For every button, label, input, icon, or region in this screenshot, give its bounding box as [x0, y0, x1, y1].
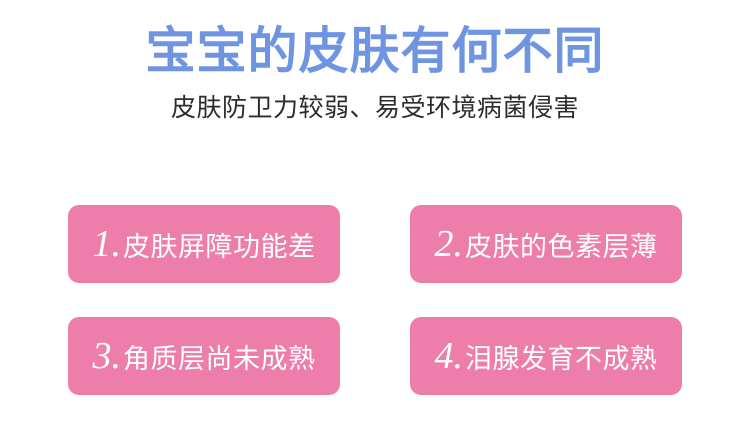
feature-grid: 1. 皮肤屏障功能差 2. 皮肤的色素层薄 3. 角质层尚未成熟 4. 泪腺发育…: [68, 205, 682, 395]
header-block: 宝宝的皮肤有何不同 皮肤防卫力较弱、易受环境病菌侵害: [0, 0, 750, 124]
feature-card-4[interactable]: 4. 泪腺发育不成熟: [410, 317, 682, 395]
feature-card-3[interactable]: 3. 角质层尚未成熟: [68, 317, 340, 395]
feature-card-2-content: 2. 皮肤的色素层薄: [435, 225, 658, 263]
feature-card-4-content: 4. 泪腺发育不成熟: [435, 337, 658, 375]
feature-card-1-content: 1. 皮肤屏障功能差: [93, 225, 316, 263]
feature-card-3-label: 角质层尚未成熟: [123, 346, 316, 373]
infographic-page: 宝宝的皮肤有何不同 皮肤防卫力较弱、易受环境病菌侵害 1. 皮肤屏障功能差 2.…: [0, 0, 750, 428]
feature-card-3-content: 3. 角质层尚未成熟: [93, 337, 316, 375]
feature-card-4-number: 4.: [435, 337, 464, 375]
feature-card-2[interactable]: 2. 皮肤的色素层薄: [410, 205, 682, 283]
page-subtitle: 皮肤防卫力较弱、易受环境病菌侵害: [0, 82, 750, 124]
feature-card-3-number: 3.: [93, 337, 122, 375]
feature-card-1[interactable]: 1. 皮肤屏障功能差: [68, 205, 340, 283]
feature-card-4-label: 泪腺发育不成熟: [465, 346, 658, 373]
feature-card-1-number: 1.: [93, 225, 122, 263]
page-title: 宝宝的皮肤有何不同: [0, 0, 750, 82]
feature-card-2-number: 2.: [435, 225, 464, 263]
feature-card-1-label: 皮肤屏障功能差: [123, 234, 316, 261]
feature-card-2-label: 皮肤的色素层薄: [465, 234, 658, 261]
